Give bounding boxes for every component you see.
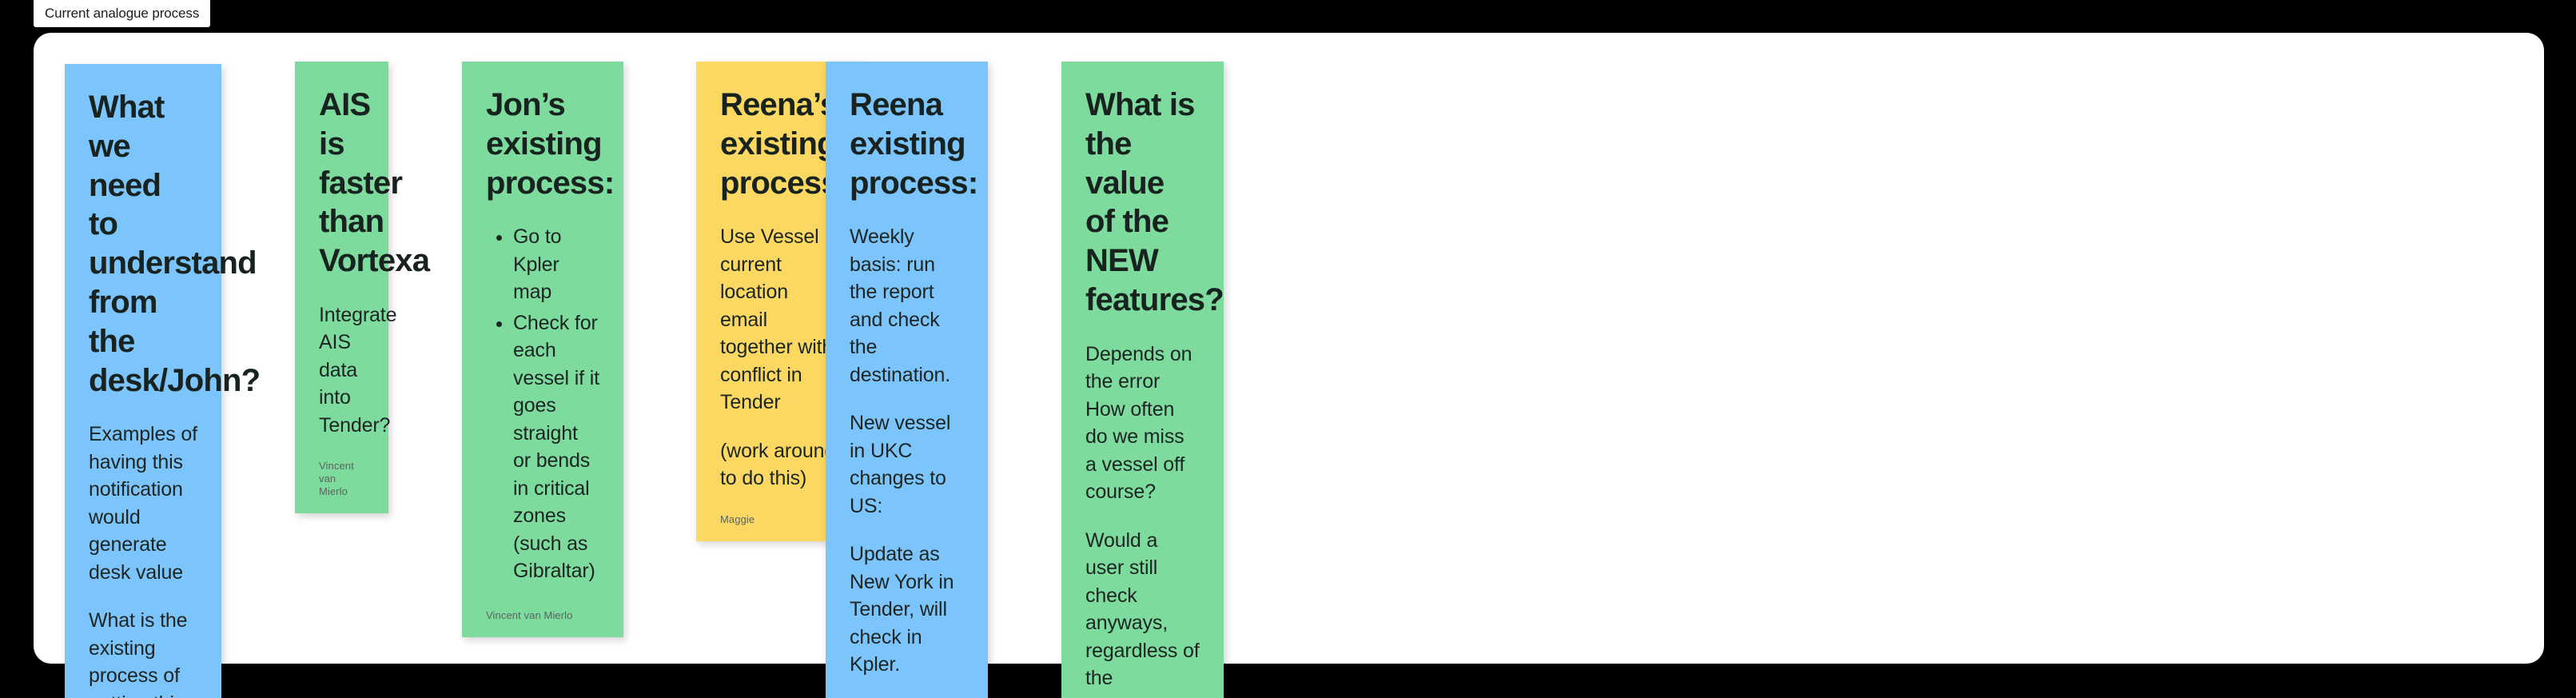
note-paragraph: Would a user still check anyways, regard… <box>1085 527 1200 698</box>
note-card[interactable]: AIS is faster than Vortexa Integrate AIS… <box>295 62 388 513</box>
note-paragraph: Integrate AIS data into Tender? <box>319 301 364 440</box>
note-list-item: Check for each vessel if it goes straigh… <box>513 309 599 585</box>
board-panel[interactable]: What we need to understand from the desk… <box>34 33 2544 664</box>
note-card-title: What we need to understand from the desk… <box>89 88 197 400</box>
note-list-item: Go to Kpler map <box>513 223 599 306</box>
note-card-body: Examples of having this notification wou… <box>89 421 197 698</box>
note-card-author: Maggie <box>720 513 836 526</box>
note-card-body: Use Vessel current location email togeth… <box>720 223 836 493</box>
note-card[interactable]: Jon’s existing process: Go to Kpler map … <box>462 62 623 637</box>
note-paragraph: Examples of having this notification wou… <box>89 421 197 586</box>
note-card-author: Vincent van Mierlo <box>319 460 364 497</box>
note-card-author: Vincent van Mierlo <box>486 609 599 622</box>
note-paragraph: Update as New York in Tender, will check… <box>850 540 964 679</box>
note-card-body: Integrate AIS data into Tender? <box>319 301 364 440</box>
note-card-body: Go to Kpler map Check for each vessel if… <box>486 223 599 588</box>
section-tab-label: Current analogue process <box>45 6 199 22</box>
whiteboard-canvas: Current analogue process What we need to… <box>0 0 2576 698</box>
note-paragraph: Depends on the error How often do we mis… <box>1085 341 1200 506</box>
note-paragraph: New vessel in UKC changes to US: <box>850 409 964 520</box>
note-card-title: Jon’s existing process: <box>486 86 599 202</box>
note-paragraph: Weekly basis: run the report and check t… <box>850 223 964 389</box>
section-tab[interactable]: Current analogue process <box>34 0 210 27</box>
note-paragraph: Use Vessel current location email togeth… <box>720 223 836 417</box>
note-card-body: Weekly basis: run the report and check t… <box>850 223 964 679</box>
note-card[interactable]: What we need to understand from the desk… <box>65 64 221 698</box>
note-card-title: AIS is faster than Vortexa <box>319 86 364 281</box>
note-card-title: What is the value of the NEW features? <box>1085 86 1200 320</box>
note-card[interactable]: What is the value of the NEW features? D… <box>1061 62 1224 698</box>
note-card-body: Depends on the error How often do we mis… <box>1085 341 1200 698</box>
note-list: Go to Kpler map Check for each vessel if… <box>486 223 599 585</box>
note-card-title: Reena’s existing process <box>720 86 836 202</box>
note-card-title: Reena existing process: <box>850 86 964 202</box>
note-paragraph: What is the existing process of getting … <box>89 607 197 698</box>
note-card[interactable]: Reena existing process: Weekly basis: ru… <box>826 62 988 698</box>
note-paragraph: (work around to do this) <box>720 437 836 493</box>
